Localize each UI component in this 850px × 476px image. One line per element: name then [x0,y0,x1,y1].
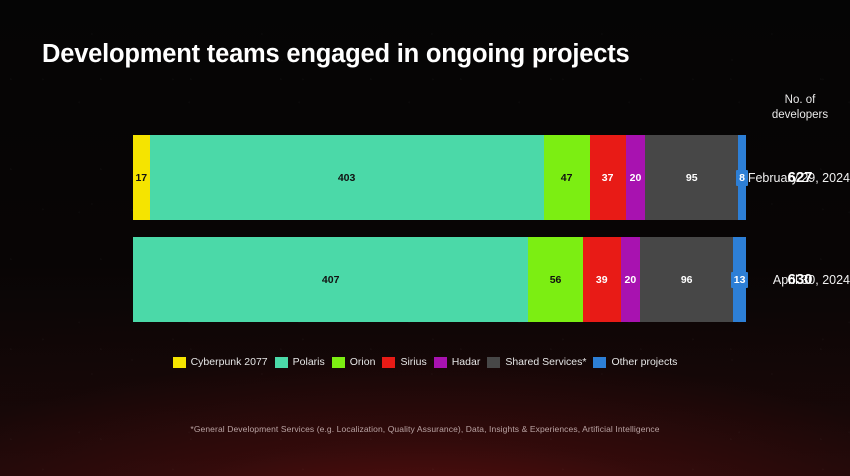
legend-item[interactable]: Other projects [593,356,677,368]
developers-column-header-line2: developers [755,108,845,123]
chart-legend: Cyberpunk 2077PolarisOrionSiriusHadarSha… [0,356,850,368]
bar-segment-value: 13 [731,272,749,288]
footnote: *General Development Services (e.g. Loca… [0,424,850,434]
legend-label: Other projects [611,356,677,368]
legend-label: Polaris [293,356,325,368]
bar-segment-value: 95 [686,172,698,184]
row-total: 627 [755,169,845,186]
bar-segment-value: 47 [561,172,573,184]
developers-column-header: No. of developers [755,93,845,123]
bar-segment-value: 17 [135,172,147,184]
bar-segment[interactable]: 8 [738,135,746,220]
bar-segment[interactable]: 56 [528,237,582,322]
bar-segment-value: 37 [602,172,614,184]
bar-segment[interactable]: 20 [621,237,640,322]
legend-label: Cyberpunk 2077 [191,356,268,368]
bar-segment[interactable]: 96 [640,237,733,322]
bar-segment-value: 56 [550,274,562,286]
bar-segment[interactable]: 95 [645,135,738,220]
bar-segment[interactable]: 17 [133,135,150,220]
bar-segment[interactable]: 37 [590,135,626,220]
bar-segment[interactable]: 403 [150,135,544,220]
page-title: Development teams engaged in ongoing pro… [42,40,630,69]
legend-swatch [173,357,186,368]
legend-swatch [275,357,288,368]
bar-segment[interactable]: 39 [583,237,621,322]
legend-swatch [593,357,606,368]
row-total: 630 [755,271,845,288]
bar-segment-value: 39 [596,274,608,286]
bar-segment-value: 407 [322,274,340,286]
bar-segment[interactable]: 13 [733,237,746,322]
developers-column-header-line1: No. of [755,93,845,108]
bar-segment-value: 20 [625,274,637,286]
legend-item[interactable]: Cyberpunk 2077 [173,356,268,368]
legend-swatch [434,357,447,368]
legend-item[interactable]: Hadar [434,356,481,368]
slide-background: Development teams engaged in ongoing pro… [0,0,850,476]
legend-item[interactable]: Orion [332,356,376,368]
legend-label: Shared Services* [505,356,586,368]
legend-swatch [382,357,395,368]
legend-swatch [332,357,345,368]
bar-segment[interactable]: 20 [626,135,646,220]
bar-segment[interactable]: 47 [544,135,590,220]
bar-segment-value: 96 [681,274,693,286]
bar-segment-value: 403 [338,172,356,184]
bar-segment-value: 8 [736,170,748,186]
legend-item[interactable]: Shared Services* [487,356,586,368]
legend-label: Sirius [400,356,426,368]
legend-label: Orion [350,356,376,368]
legend-item[interactable]: Polaris [275,356,325,368]
bar-segment-value: 20 [630,172,642,184]
legend-swatch [487,357,500,368]
stacked-bar: 4075639209613 [133,237,746,322]
stacked-bar: 17403473720958 [133,135,746,220]
bar-segment[interactable]: 407 [133,237,528,322]
legend-label: Hadar [452,356,481,368]
legend-item[interactable]: Sirius [382,356,426,368]
